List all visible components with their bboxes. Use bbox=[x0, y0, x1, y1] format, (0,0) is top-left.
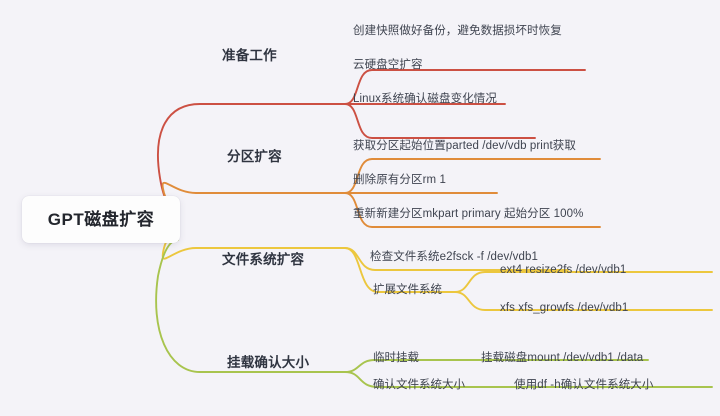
leaf-node-3-2-1[interactable]: ext4 resize2fs /dev/vdb1 bbox=[500, 265, 626, 277]
subbranch-node-3-2-label: 扩展文件系统 bbox=[373, 284, 442, 296]
branch-3-connectors bbox=[163, 234, 712, 310]
subbranch-node-4-2-label: 确认文件系统大小 bbox=[373, 379, 465, 391]
leaf-node-4-2-1-label: 使用df -h确认文件系统大小 bbox=[514, 379, 654, 391]
leaf-node-2-1-label: 获取分区起始位置parted /dev/vdb print获取 bbox=[353, 140, 576, 152]
leaf-node-4-1-1-label: 挂载磁盘mount /dev/vdb1 /data bbox=[481, 352, 643, 364]
subbranch-node-3-2[interactable]: 扩展文件系统 bbox=[373, 285, 442, 297]
branch-node-3-label: 文件系统扩容 bbox=[222, 252, 304, 267]
leaf-node-1-1[interactable]: 创建快照做好备份，避免数据损坏时恢复 bbox=[353, 26, 562, 38]
branch-node-4[interactable]: 挂载确认大小 bbox=[227, 356, 309, 370]
leaf-node-4-1-1[interactable]: 挂载磁盘mount /dev/vdb1 /data bbox=[481, 353, 643, 365]
leaf-node-2-2-label: 删除原有分区rm 1 bbox=[353, 174, 446, 186]
subbranch-node-4-1-label: 临时挂载 bbox=[373, 352, 419, 364]
edge-root-to-branch-2 bbox=[163, 183, 345, 206]
branch-node-4-label: 挂载确认大小 bbox=[227, 355, 309, 370]
leaf-node-3-2-2[interactable]: xfs xfs_growfs /dev/vdb1 bbox=[500, 303, 628, 315]
leaf-node-2-2[interactable]: 删除原有分区rm 1 bbox=[353, 175, 446, 187]
leaf-node-1-2[interactable]: 云硬盘空扩容 bbox=[353, 60, 423, 72]
subbranch-node-4-2[interactable]: 确认文件系统大小 bbox=[373, 380, 465, 392]
root-node[interactable]: GPT磁盘扩容 bbox=[22, 196, 180, 243]
leaf-node-3-2-2-label: xfs xfs_growfs /dev/vdb1 bbox=[500, 302, 628, 314]
leaf-node-2-3-label: 重新新建分区mkpart primary 起始分区 100% bbox=[353, 208, 583, 220]
mindmap-canvas: GPT磁盘扩容 准备工作 创建快照做好备份，避免数据损坏时恢复 云硬盘空扩容 L… bbox=[0, 0, 720, 416]
leaf-node-3-2-1-label: ext4 resize2fs /dev/vdb1 bbox=[500, 264, 626, 276]
branch-node-2-label: 分区扩容 bbox=[227, 149, 282, 164]
edge-branch-1-child-3 bbox=[345, 104, 535, 138]
leaf-node-1-2-label: 云硬盘空扩容 bbox=[353, 59, 423, 71]
leaf-node-3-1[interactable]: 检查文件系统e2fsck -f /dev/vdb1 bbox=[370, 252, 538, 264]
leaf-node-1-1-label: 创建快照做好备份，避免数据损坏时恢复 bbox=[353, 25, 562, 37]
leaf-node-2-3[interactable]: 重新新建分区mkpart primary 起始分区 100% bbox=[353, 209, 583, 221]
branch-node-3[interactable]: 文件系统扩容 bbox=[222, 253, 304, 267]
branch-node-1-label: 准备工作 bbox=[222, 48, 277, 63]
leaf-node-3-1-label: 检查文件系统e2fsck -f /dev/vdb1 bbox=[370, 251, 538, 263]
subbranch-node-4-1[interactable]: 临时挂载 bbox=[373, 353, 419, 365]
leaf-node-1-3-label: Linux系统确认磁盘变化情况 bbox=[353, 93, 497, 105]
branch-node-1[interactable]: 准备工作 bbox=[222, 49, 277, 63]
leaf-node-4-2-1[interactable]: 使用df -h确认文件系统大小 bbox=[514, 380, 654, 392]
root-node-label: GPT磁盘扩容 bbox=[48, 211, 154, 228]
branch-node-2[interactable]: 分区扩容 bbox=[227, 150, 282, 164]
leaf-node-1-3[interactable]: Linux系统确认磁盘变化情况 bbox=[353, 94, 497, 106]
leaf-node-2-1[interactable]: 获取分区起始位置parted /dev/vdb print获取 bbox=[353, 141, 576, 153]
